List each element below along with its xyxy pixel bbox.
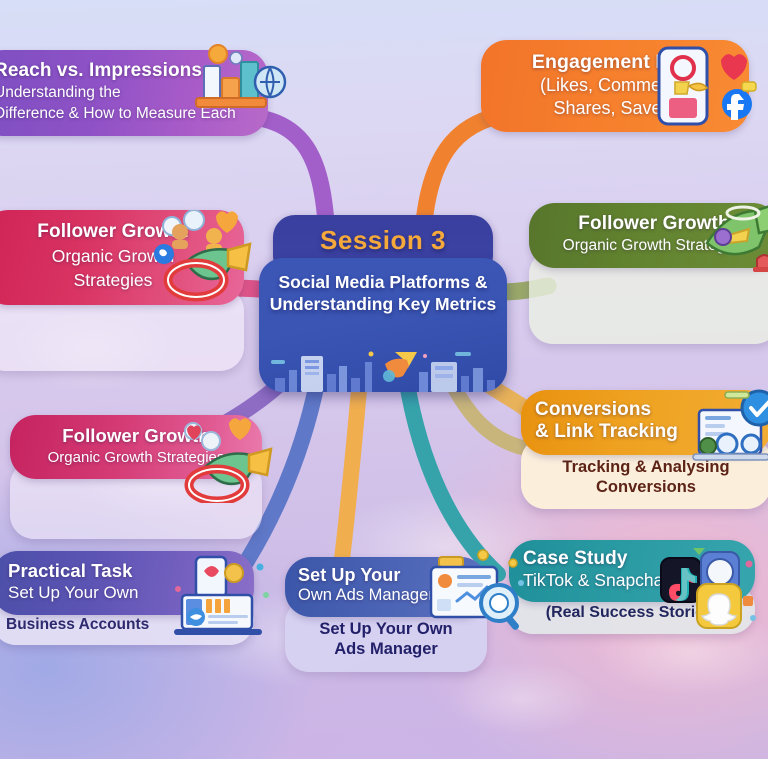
node-body-text: (Real Success Stories) bbox=[523, 603, 741, 623]
city-skyline-icon bbox=[259, 344, 507, 392]
node-subtitle-line1: Set Up Your Own bbox=[8, 583, 238, 603]
node-header: Engagement Rate (Likes, Comments, Shares… bbox=[481, 40, 749, 132]
node-conversions-link-tracking[interactable]: Conversions & Link Tracking Tracking & A… bbox=[521, 390, 768, 509]
node-subtitle-line1: Organic Growth Strategies bbox=[24, 449, 248, 467]
node-body-text-line2: Ads Manager bbox=[299, 639, 473, 659]
node-body-text-line1: Tracking & Analysing bbox=[535, 457, 757, 477]
connector-case-study bbox=[406, 378, 498, 574]
mindmap-canvas: Reach vs. Impressions Understanding the … bbox=[0, 0, 768, 759]
node-practical-task[interactable]: Practical Task Set Up Your Own Business … bbox=[0, 551, 254, 645]
center-node[interactable]: Session 3 Social Media Platforms & Under… bbox=[259, 215, 507, 392]
node-follower-growth-1[interactable]: Follower Growth Organic Growth Strategie… bbox=[0, 210, 244, 371]
node-title-line1: Conversions bbox=[535, 399, 757, 421]
node-header: Case Study TikTok & Snapchat bbox=[509, 540, 755, 602]
node-subtitle-line2: Strategies bbox=[0, 270, 228, 291]
node-header: Reach vs. Impressions Understanding the … bbox=[0, 50, 268, 136]
node-title: Case Study bbox=[523, 548, 741, 570]
node-title: Follower Growth bbox=[0, 221, 228, 243]
node-header: Practical Task Set Up Your Own bbox=[0, 551, 254, 615]
node-title: Follower Growth bbox=[24, 425, 248, 447]
node-ads-manager[interactable]: Set Up Your Own Ads Manager Set Up Your … bbox=[285, 557, 487, 672]
node-subtitle-line1: TikTok & Snapchat bbox=[523, 570, 741, 591]
node-header: Follower Growth Organic Growth Strategie… bbox=[10, 415, 262, 479]
node-follower-growth-3[interactable]: Follower Growth Organic Growth Strategie… bbox=[10, 415, 262, 539]
node-title: Engagement Rate bbox=[497, 51, 733, 74]
node-title: Set Up Your bbox=[298, 565, 474, 586]
node-subtitle-line1: Organic Growth bbox=[0, 246, 228, 267]
node-reach-vs-impressions[interactable]: Reach vs. Impressions Understanding the … bbox=[0, 50, 268, 136]
node-subtitle-line2: Difference & How to Measure Each bbox=[0, 105, 252, 124]
node-title: Follower Growth bbox=[543, 213, 765, 235]
node-subtitle-line1: (Likes, Comments, bbox=[497, 75, 733, 97]
node-subtitle-line2: Shares, Saves) bbox=[497, 98, 733, 120]
node-subtitle-line1: Organic Growth Strategies bbox=[543, 237, 765, 256]
center-main-panel: Social Media Platforms & Understanding K… bbox=[259, 258, 507, 392]
node-subtitle-line1: Own Ads Manager bbox=[298, 586, 474, 606]
node-header: Follower Growth Organic Growth Strategie… bbox=[0, 210, 244, 305]
node-body-text-line1: Set Up Your Own bbox=[299, 619, 473, 639]
node-title-line2: & Link Tracking bbox=[535, 421, 757, 443]
node-case-study[interactable]: Case Study TikTok & Snapchat (Real Succe… bbox=[509, 540, 755, 634]
node-header: Set Up Your Own Ads Manager bbox=[285, 557, 487, 617]
node-subtitle-line1: Understanding the bbox=[0, 84, 252, 103]
center-title-line2: Understanding Key Metrics bbox=[269, 294, 497, 316]
session-label: Session 3 bbox=[273, 225, 493, 256]
node-body-text-line2: Conversions bbox=[535, 477, 757, 497]
node-header: Conversions & Link Tracking bbox=[521, 390, 768, 455]
node-title: Reach vs. Impressions bbox=[0, 60, 252, 82]
node-engagement-rate[interactable]: Engagement Rate (Likes, Comments, Shares… bbox=[481, 40, 749, 132]
node-title: Practical Task bbox=[8, 560, 238, 582]
node-header: Follower Growth Organic Growth Strategie… bbox=[529, 203, 768, 268]
node-follower-growth-2[interactable]: Follower Growth Organic Growth Strategie… bbox=[529, 203, 768, 344]
center-title-line1: Social Media Platforms & bbox=[269, 272, 497, 294]
node-body-text: Business Accounts bbox=[6, 616, 240, 635]
